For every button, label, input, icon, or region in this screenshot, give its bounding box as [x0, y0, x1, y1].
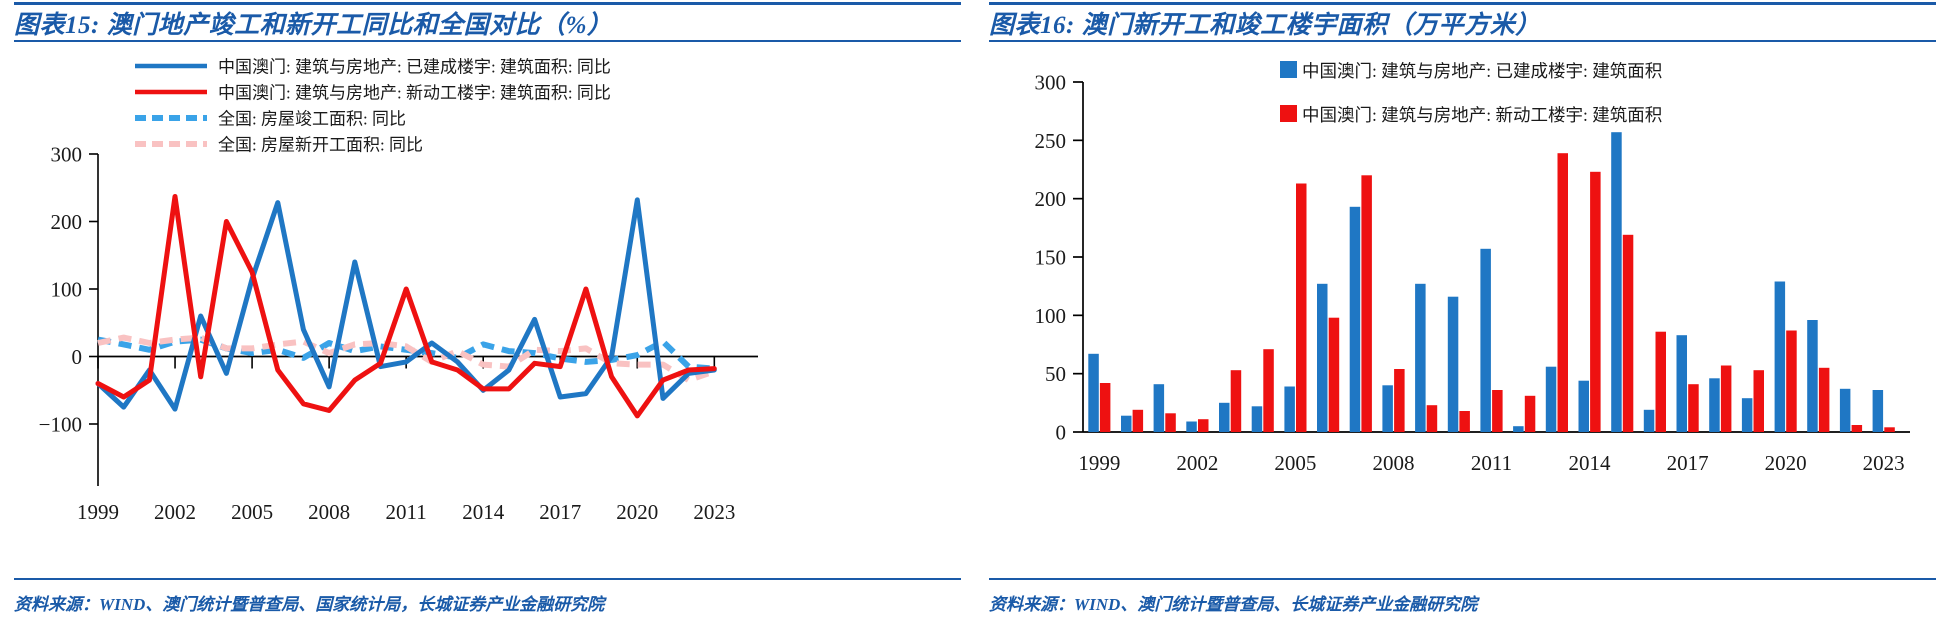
chart-15-area: 中国澳门: 建筑与房地产: 已建成楼宇: 建筑面积: 同比中国澳门: 建筑与房地… [0, 44, 975, 544]
x-tick-label: 2014 [1569, 451, 1612, 475]
bar [1590, 172, 1601, 432]
bar [1852, 425, 1863, 432]
bar-chart-16: 中国澳门: 建筑与房地产: 已建成楼宇: 建筑面积中国澳门: 建筑与房地产: 新… [975, 44, 1950, 544]
line-chart-15: 中国澳门: 建筑与房地产: 已建成楼宇: 建筑面积: 同比中国澳门: 建筑与房地… [0, 44, 975, 544]
y-tick-label: 300 [1035, 71, 1067, 95]
y-tick-label: 0 [72, 345, 83, 369]
y-tick-label: 200 [51, 210, 83, 234]
bar [1350, 207, 1361, 432]
bar [1786, 331, 1797, 433]
bar [1121, 416, 1132, 432]
bar [1884, 427, 1895, 432]
x-tick-label: 2011 [1471, 451, 1512, 475]
legend-label: 中国澳门: 建筑与房地产: 已建成楼宇: 建筑面积 [1302, 61, 1662, 81]
bar [1656, 332, 1667, 432]
bar [1688, 384, 1699, 432]
bar [1448, 297, 1459, 432]
legend-label: 中国澳门: 建筑与房地产: 已建成楼宇: 建筑面积: 同比 [218, 58, 611, 77]
bar [1284, 387, 1295, 433]
x-tick-label: 2020 [1765, 451, 1807, 475]
report-page: 图表15: 澳门地产竣工和新开工同比和全国对比（%） 中国澳门: 建筑与房地产:… [0, 0, 1950, 636]
bar [1088, 354, 1099, 432]
bar [1252, 406, 1263, 432]
bar [1459, 411, 1470, 432]
bar [1742, 398, 1753, 432]
bar [1317, 284, 1328, 432]
bar [1492, 390, 1503, 432]
bar [1480, 249, 1491, 432]
left-source-text: 资料来源：WIND、澳门统计暨普查局、国家统计局，长城证券产业金融研究院 [14, 590, 604, 615]
bar [1394, 369, 1405, 432]
y-tick-label: 200 [1035, 187, 1067, 211]
right-source-text: 资料来源：WIND、澳门统计暨普查局、长城证券产业金融研究院 [989, 590, 1477, 615]
bar [1165, 413, 1176, 432]
x-tick-label: 2023 [693, 500, 735, 524]
left-title-prefix: 图表15: [14, 12, 100, 39]
bar [1219, 403, 1230, 432]
x-tick-label: 2002 [154, 500, 196, 524]
x-tick-label: 2020 [616, 500, 658, 524]
chart-16-area: 中国澳门: 建筑与房地产: 已建成楼宇: 建筑面积中国澳门: 建筑与房地产: 新… [975, 44, 1950, 544]
legend-label: 中国澳门: 建筑与房地产: 新动工楼宇: 建筑面积 [1302, 105, 1662, 125]
legend-label: 中国澳门: 建筑与房地产: 新动工楼宇: 建筑面积: 同比 [218, 84, 611, 103]
bar [1819, 368, 1830, 432]
bar [1263, 349, 1274, 432]
bar [1807, 320, 1818, 432]
chart-16-bars [1088, 132, 1895, 432]
right-page-title: 图表16: 澳门新开工和竣工楼宇面积（万平方米） [989, 5, 1541, 41]
bar [1513, 426, 1524, 432]
x-tick-label: 2023 [1863, 451, 1905, 475]
bar [1329, 318, 1340, 432]
y-tick-label: 0 [1056, 421, 1067, 445]
left-title-main: 澳门地产竣工和新开工同比和全国对比（%） [107, 12, 613, 39]
bar [1840, 389, 1851, 432]
bar [1415, 284, 1426, 432]
bar [1677, 335, 1688, 432]
x-tick-label: 2008 [308, 500, 350, 524]
chart-15-series [98, 197, 714, 416]
y-tick-label: −100 [39, 413, 82, 437]
x-tick-label: 2017 [539, 500, 581, 524]
x-tick-label: 2005 [231, 500, 273, 524]
bar [1427, 405, 1438, 432]
bar [1644, 410, 1655, 432]
left-page-title: 图表15: 澳门地产竣工和新开工同比和全国对比（%） [14, 5, 612, 41]
x-tick-label: 2014 [462, 500, 505, 524]
bar [1525, 396, 1536, 432]
bar [1296, 184, 1307, 433]
bar [1198, 419, 1209, 432]
panel-chart-16: 图表16: 澳门新开工和竣工楼宇面积（万平方米） 中国澳门: 建筑与房地产: 已… [975, 0, 1950, 636]
bar [1382, 385, 1393, 432]
bar [1558, 153, 1569, 432]
x-tick-label: 2008 [1372, 451, 1414, 475]
x-tick-label: 1999 [1078, 451, 1120, 475]
x-tick-label: 2017 [1667, 451, 1709, 475]
legend-swatch-square [1280, 61, 1297, 78]
legend-label: 全国: 房屋竣工面积: 同比 [218, 110, 406, 129]
bar [1154, 384, 1165, 432]
bar [1100, 383, 1111, 432]
bar [1623, 235, 1634, 432]
x-tick-label: 1999 [77, 500, 119, 524]
bar [1709, 378, 1720, 432]
bar [1546, 367, 1557, 432]
panel-chart-15: 图表15: 澳门地产竣工和新开工同比和全国对比（%） 中国澳门: 建筑与房地产:… [0, 0, 975, 636]
legend-swatch-square [1280, 105, 1297, 122]
right-title-bar: 图表16: 澳门新开工和竣工楼宇面积（万平方米） [975, 0, 1950, 42]
right-source-bar: 资料来源：WIND、澳门统计暨普查局、长城证券产业金融研究院 [975, 578, 1950, 622]
left-title-bar: 图表15: 澳门地产竣工和新开工同比和全国对比（%） [0, 0, 975, 42]
x-tick-label: 2002 [1176, 451, 1218, 475]
bar [1231, 370, 1242, 432]
bar [1133, 410, 1144, 432]
bar [1361, 175, 1372, 432]
bar [1721, 366, 1732, 433]
chart-16-legend: 中国澳门: 建筑与房地产: 已建成楼宇: 建筑面积中国澳门: 建筑与房地产: 新… [1280, 61, 1662, 125]
y-tick-label: 100 [51, 278, 83, 302]
right-title-prefix: 图表16: [989, 12, 1075, 39]
bar [1775, 282, 1786, 433]
legend-label: 全国: 房屋新开工面积: 同比 [218, 136, 423, 155]
y-tick-label: 150 [1035, 246, 1067, 270]
y-tick-label: 300 [51, 143, 83, 167]
right-title-main: 澳门新开工和竣工楼宇面积（万平方米） [1082, 12, 1541, 39]
y-tick-label: 100 [1035, 304, 1067, 328]
chart-15-legend: 中国澳门: 建筑与房地产: 已建成楼宇: 建筑面积: 同比中国澳门: 建筑与房地… [135, 58, 611, 155]
x-tick-label: 2005 [1274, 451, 1316, 475]
bar [1579, 381, 1590, 432]
left-source-bar: 资料来源：WIND、澳门统计暨普查局、国家统计局，长城证券产业金融研究院 [0, 578, 975, 622]
bar [1611, 132, 1622, 432]
bar [1754, 370, 1765, 432]
left-source-rule [14, 578, 961, 580]
x-tick-label: 2011 [386, 500, 427, 524]
bar [1873, 390, 1884, 432]
y-tick-label: 250 [1035, 129, 1067, 153]
y-tick-label: 50 [1045, 362, 1066, 386]
bar [1186, 422, 1197, 433]
chart-15-axes: −100010020030019992002200520082011201420… [39, 143, 758, 525]
right-source-rule [989, 578, 1936, 580]
